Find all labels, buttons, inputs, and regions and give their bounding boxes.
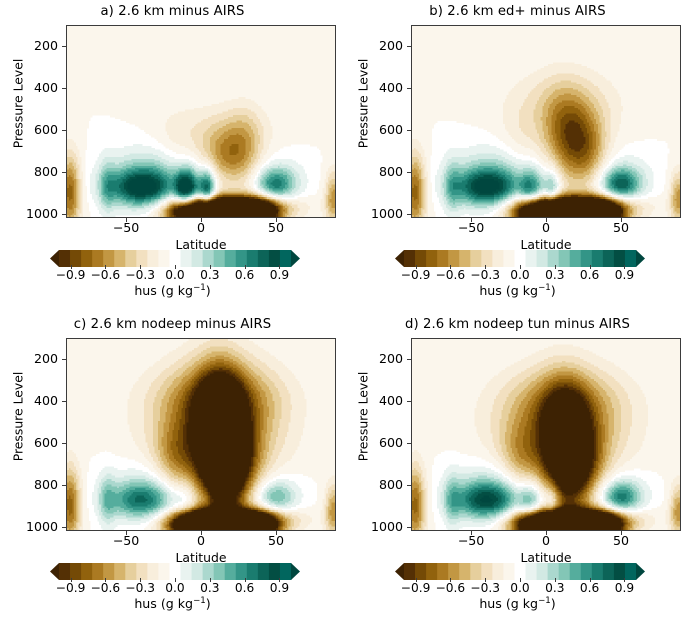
colorbar-label-exponent: −1 (193, 283, 206, 293)
y-tickmark (407, 46, 411, 47)
x-tick-label: −50 (98, 221, 154, 234)
y-tickmark (407, 88, 411, 89)
colorbar-label-main: hus (g kg (134, 283, 193, 298)
colorbar-label-exponent: −1 (538, 596, 551, 606)
x-tick-label: −50 (443, 221, 499, 234)
y-tickmark (62, 172, 66, 173)
x-tick-label: 50 (248, 221, 304, 234)
panel-c-colorbar: −0.9−0.6−0.30.00.30.60.9hus (g kg−1) (0, 563, 345, 625)
x-tick-label: 50 (593, 534, 649, 547)
panel-a: a) 2.6 km minus AIRS2004006008001000−500… (0, 0, 345, 313)
x-tick-label: −50 (98, 534, 154, 547)
x-tick-label: 50 (248, 534, 304, 547)
colorbar-label-tail: ) (551, 596, 556, 611)
panel-b-plot-area (411, 25, 681, 218)
panel-a-title: a) 2.6 km minus AIRS (0, 4, 345, 20)
panel-b: b) 2.6 km ed+ minus AIRS2004006008001000… (345, 0, 690, 313)
panel-c-title: c) 2.6 km nodeep minus AIRS (0, 317, 345, 333)
y-tickmark (407, 485, 411, 486)
figure-canvas: a) 2.6 km minus AIRS2004006008001000−500… (0, 0, 690, 627)
colorbar-label: hus (g kg−1) (345, 283, 690, 298)
colorbar-label-main: hus (g kg (479, 596, 538, 611)
y-axis-label: Pressure Level (11, 24, 26, 184)
colorbar-label-main: hus (g kg (479, 283, 538, 298)
x-tick-label: 0 (173, 221, 229, 234)
y-axis-label: Pressure Level (11, 337, 26, 497)
x-tick-label: 0 (518, 534, 574, 547)
y-tickmark (62, 130, 66, 131)
y-tick-label: 1000 (10, 208, 58, 220)
colorbar-label-tail: ) (551, 283, 556, 298)
colorbar-label-tail: ) (206, 596, 211, 611)
y-tickmark (407, 359, 411, 360)
colorbar-label-tail: ) (206, 283, 211, 298)
x-tick-label: 0 (173, 534, 229, 547)
colorbar-label: hus (g kg−1) (0, 283, 345, 298)
y-tickmark (62, 485, 66, 486)
colorbar-label-exponent: −1 (193, 596, 206, 606)
y-tickmark (62, 214, 66, 215)
panel-c: c) 2.6 km nodeep minus AIRS2004006008001… (0, 313, 345, 626)
x-tick-label: 0 (518, 221, 574, 234)
panel-d-title: d) 2.6 km nodeep tun minus AIRS (345, 317, 690, 333)
y-tickmark (407, 443, 411, 444)
colorbar-tick-label: 0.9 (601, 268, 647, 282)
y-tickmark (62, 527, 66, 528)
panel-b-colorbar: −0.9−0.6−0.30.00.30.60.9hus (g kg−1) (345, 250, 690, 312)
x-tick-label: −50 (443, 534, 499, 547)
y-tickmark (407, 172, 411, 173)
colorbar-label: hus (g kg−1) (345, 596, 690, 611)
y-tickmark (62, 88, 66, 89)
colorbar-label: hus (g kg−1) (0, 596, 345, 611)
colorbar-label-exponent: −1 (538, 283, 551, 293)
x-tick-label: 50 (593, 221, 649, 234)
colorbar-tick-label: 0.9 (256, 581, 302, 595)
y-tickmark (62, 443, 66, 444)
panel-a-plot-area (66, 25, 336, 218)
y-tickmark (407, 401, 411, 402)
colorbar-tick-label: 0.9 (601, 581, 647, 595)
panel-c-plot-area (66, 338, 336, 531)
y-tickmark (62, 401, 66, 402)
colorbar-label-main: hus (g kg (134, 596, 193, 611)
y-tickmark (407, 214, 411, 215)
y-tick-label: 1000 (355, 208, 403, 220)
panel-a-colorbar: −0.9−0.6−0.30.00.30.60.9hus (g kg−1) (0, 250, 345, 312)
y-tickmark (62, 359, 66, 360)
y-tickmark (407, 130, 411, 131)
y-tick-label: 1000 (10, 521, 58, 533)
panel-d: d) 2.6 km nodeep tun minus AIRS200400600… (345, 313, 690, 626)
panel-b-title: b) 2.6 km ed+ minus AIRS (345, 4, 690, 20)
y-axis-label: Pressure Level (356, 337, 371, 497)
y-axis-label: Pressure Level (356, 24, 371, 184)
panel-d-colorbar: −0.9−0.6−0.30.00.30.60.9hus (g kg−1) (345, 563, 690, 625)
panel-d-plot-area (411, 338, 681, 531)
y-tickmark (407, 527, 411, 528)
y-tickmark (62, 46, 66, 47)
y-tick-label: 1000 (355, 521, 403, 533)
colorbar-tick-label: 0.9 (256, 268, 302, 282)
